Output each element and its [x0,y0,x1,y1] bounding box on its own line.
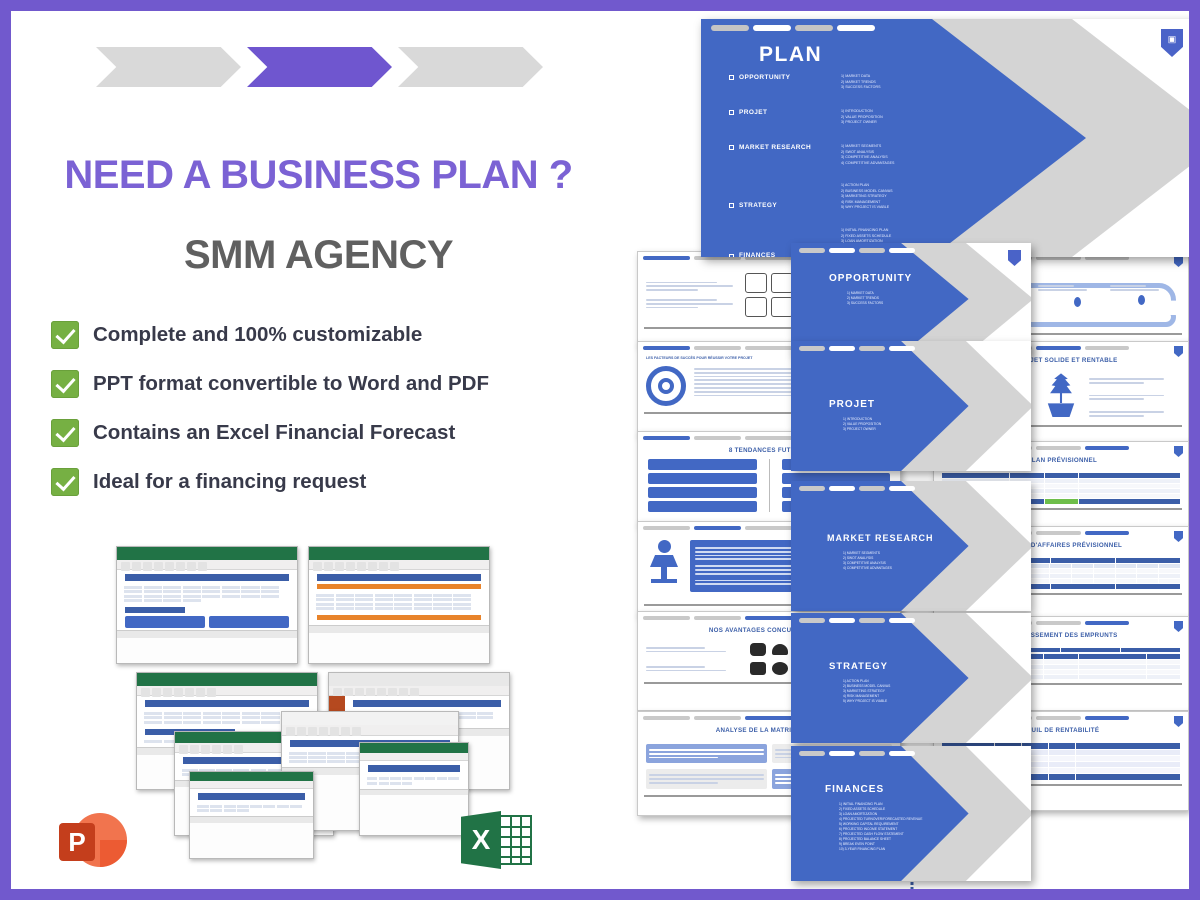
cursor-icon [750,662,766,675]
section-slide-strategy[interactable]: STRATEGY 1) ACTION PLAN 2) BUSINESS MODE… [791,613,1031,743]
excel-sheet-area [117,570,297,630]
excel-letter: X [461,811,501,869]
excel-icon: X [461,809,533,871]
check-icon [51,321,79,349]
main-plan-slide[interactable]: ▣ PLAN OPPORTUNITY 1) MARKET DATA 2) MAR… [701,19,1189,257]
excel-statusbar [117,630,297,638]
chevron-step-1 [96,47,241,87]
list-item: Ideal for a financing request [51,468,631,496]
plan-section-label: PROJET [729,109,841,143]
chevron-step-2-active [247,47,392,87]
plan-section-row[interactable]: PROJET 1) INTRODUCTION 2) VALUE PROPOSIT… [729,109,979,143]
section-list: 1) MARKET DATA 2) MARKET TRENDS 3) SUCCE… [847,291,883,306]
check-icon [51,468,79,496]
plan-section-label: STRATEGY [729,183,841,227]
shield-logo-icon: ▣ [1161,29,1183,57]
speaker-icon [646,540,682,592]
plan-section-row[interactable]: STRATEGY 1) ACTION PLAN 2) BUSINESS MODE… [729,183,979,227]
shield-icon [1174,446,1183,457]
shield-icon [1174,716,1183,727]
section-title: STRATEGY [829,661,888,672]
excel-ribbon [117,560,297,570]
plan-section-items: 1) MARKET SEGMENTS 2) SWOT ANALYSIS 3) C… [841,144,894,182]
plan-section-row[interactable]: MARKET RESEARCH 1) MARKET SEGMENTS 2) SW… [729,144,979,182]
excel-thumbnail [116,546,298,664]
slide-deck: LES FACTEURS DE SUCCÈS POUR RÉUSSIR VOTR… [623,11,1189,889]
check-icon [51,370,79,398]
section-list: 1) MARKET SEGMENTS 2) SWOT ANALYSIS 3) C… [843,551,892,571]
slide-title: PLAN [759,43,822,67]
presentation-icon [771,273,793,293]
chevron-ribbon [96,47,549,87]
poster-inner: NEED A BUSINESS PLAN ? SMM AGENCY Comple… [11,11,1189,889]
scroll-dots [911,880,914,889]
list-item-label: Contains an Excel Financial Forecast [93,421,455,445]
feature-list: Complete and 100% customizable PPT forma… [51,321,631,517]
shield-icon [1174,256,1183,267]
plan-section-items: 1) MARKET DATA 2) MARKET TRENDS 3) SUCCE… [841,74,880,108]
page-subtitle: SMM AGENCY [11,233,626,278]
shield-icon [1174,621,1183,632]
excel-thumbnail [189,771,314,859]
plan-section-items: 1) INTRODUCTION 2) VALUE PROPOSITION 3) … [841,109,883,143]
section-slide-finances[interactable]: FINANCES 1) INITIAL FINANCING PLAN 2) FI… [791,746,1031,881]
list-item: PPT format convertible to Word and PDF [51,370,631,398]
chevron-step-3 [398,47,543,87]
plant-icon [1039,373,1083,417]
excel-thumbnail [308,546,490,664]
section-list: 1) INITIAL FINANCING PLAN 2) FIXED ASSET… [839,802,922,852]
checkbox-icon [729,110,734,115]
chart-icon [745,273,767,293]
check-icon [51,419,79,447]
section-list: 1) ACTION PLAN 2) BUSINESS MODEL CANVAS … [843,679,890,704]
slide-tabs[interactable] [711,25,875,31]
target-icon [646,366,686,406]
list-item-label: Ideal for a financing request [93,470,366,494]
section-title: OPPORTUNITY [829,273,912,284]
plan-section-label: OPPORTUNITY [729,74,841,108]
shield-icon [1174,346,1183,357]
section-title: FINANCES [825,784,884,795]
checkbox-icon [729,254,734,257]
shield-icon [1174,531,1183,542]
list-item: Complete and 100% customizable [51,321,631,349]
poster-canvas: NEED A BUSINESS PLAN ? SMM AGENCY Comple… [0,0,1200,900]
people-icon [771,297,793,317]
plan-section-row[interactable]: OPPORTUNITY 1) MARKET DATA 2) MARKET TRE… [729,74,979,108]
excel-grid [499,815,532,865]
binoculars-icon [750,643,766,656]
plan-section-label: MARKET RESEARCH [729,144,841,182]
list-item-label: PPT format convertible to Word and PDF [93,372,489,396]
section-slide-market-research[interactable]: MARKET RESEARCH 1) MARKET SEGMENTS 2) SW… [791,481,1031,611]
checkbox-icon [729,75,734,80]
page-title: NEED A BUSINESS PLAN ? [11,153,626,198]
checkbox-icon [729,203,734,208]
list-item-label: Complete and 100% customizable [93,323,422,347]
cloud-icon [772,644,788,655]
section-slide-projet[interactable]: PROJET 1) INTRODUCTION 2) VALUE PROPOSIT… [791,341,1031,471]
plan-section-items: 1) ACTION PLAN 2) BUSINESS MODEL CANVAS … [841,183,893,227]
analytics-icon [745,297,767,317]
excel-thumbnail [359,742,469,836]
powerpoint-icon: P [59,807,127,875]
section-slide-opportunity[interactable]: OPPORTUNITY 1) MARKET DATA 2) MARKET TRE… [791,243,1031,355]
gear-icon [772,662,788,675]
excel-screenshot-collage [116,546,516,876]
section-title: MARKET RESEARCH [827,533,934,543]
checkbox-icon [729,145,734,150]
list-item: Contains an Excel Financial Forecast [51,419,631,447]
powerpoint-letter: P [59,823,95,861]
excel-titlebar [117,547,297,560]
section-title: PROJET [829,399,875,410]
plan-sections: OPPORTUNITY 1) MARKET DATA 2) MARKET TRE… [729,74,979,257]
section-list: 1) INTRODUCTION 2) VALUE PROPOSITION 3) … [843,417,881,432]
